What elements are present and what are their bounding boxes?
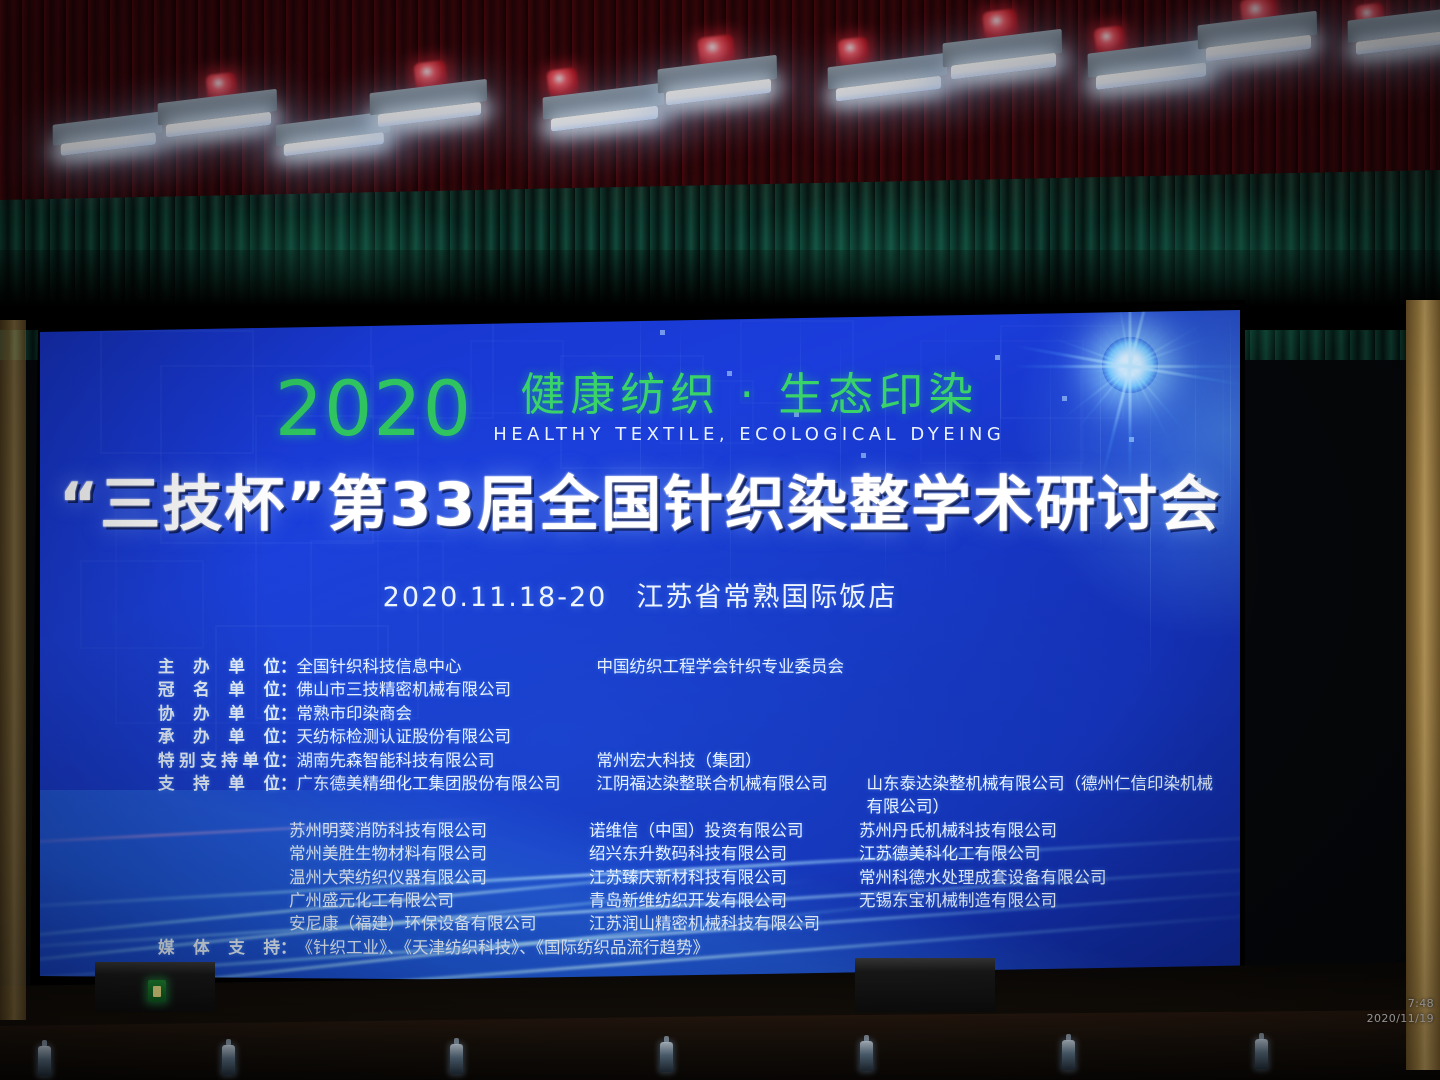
credit-values: 温州大荣纺织仪器有限公司江苏臻庆新材科技有限公司常州科德水处理成套设备有限公司 <box>289 866 1228 889</box>
credit-colon: ： <box>280 936 297 959</box>
credit-values: 佛山市三技精密机械有限公司 <box>297 678 1229 701</box>
tech-vertical-line <box>945 310 946 589</box>
left-wall-pillar <box>0 320 26 1020</box>
credit-row: 特别支持单位：湖南先森智能科技有限公司常州宏大科技（集团） <box>158 749 1228 772</box>
credit-value: 诺维信（中国）投资有限公司 <box>589 819 859 842</box>
credit-value <box>859 912 1228 935</box>
credit-colon: ： <box>280 678 297 701</box>
red-lamp-icon <box>837 36 870 65</box>
credit-values: 广东德美精细化工集团股份有限公司江阴福达染整联合机械有限公司山东泰达染整机械有限… <box>297 772 1229 819</box>
credit-values: 湖南先森智能科技有限公司常州宏大科技（集团） <box>297 749 1229 772</box>
credit-value: 苏州丹氏机械科技有限公司 <box>859 819 1228 842</box>
credit-values: 苏州明葵消防科技有限公司诺维信（中国）投资有限公司苏州丹氏机械科技有限公司 <box>289 819 1228 842</box>
credit-value: 佛山市三技精密机械有限公司 <box>297 678 597 701</box>
credit-values: 全国针织科技信息中心中国纺织工程学会针织专业委员会 <box>297 655 1229 678</box>
credit-label: 主 办 单 位 <box>158 655 280 678</box>
credit-value: 江苏润山精密机械科技有限公司 <box>589 912 859 935</box>
credit-value: 苏州明葵消防科技有限公司 <box>289 819 589 842</box>
credit-colon: ： <box>280 772 297 795</box>
stage-light-fixture <box>941 29 1068 111</box>
credit-value: 全国针织科技信息中心 <box>297 655 597 678</box>
credit-row: 媒 体 支 持：《针织工业》、《天津纺织科技》、《国际纺织品流行趋势》 <box>158 936 1228 959</box>
tech-node-dot <box>995 355 1000 360</box>
camera-timestamp: 7:48 2020/11/19 <box>1314 996 1434 1026</box>
credit-row: 常州美胜生物材料有限公司绍兴东升数码科技有限公司江苏德美科化工有限公司 <box>158 842 1228 865</box>
credit-values: 广州盛元化工有限公司青岛新维纺织开发有限公司无锡东宝机械制造有限公司 <box>289 889 1228 912</box>
credit-row: 主 办 单 位：全国针织科技信息中心中国纺织工程学会针织专业委员会 <box>158 655 1228 678</box>
red-lamp-icon <box>546 67 579 96</box>
credit-label: 特别支持单位 <box>158 749 280 772</box>
water-bottle <box>222 1045 235 1075</box>
exit-sign-glyph <box>153 986 161 997</box>
right-wall-pillar <box>1406 300 1440 1070</box>
credit-row: 支 持 单 位：广东德美精细化工集团股份有限公司江阴福达染整联合机械有限公司山东… <box>158 772 1228 819</box>
tech-node-dot <box>861 453 866 458</box>
led-screen: 2020 健康纺织 · 生态印染 HEALTHY TEXTILE, ECOLOG… <box>40 310 1240 990</box>
credit-row: 协 办 单 位：常熟市印染商会 <box>158 702 1228 725</box>
exit-sign-icon <box>148 980 166 1002</box>
credit-label: 冠 名 单 位 <box>158 678 280 701</box>
timestamp-date: 2020/11/19 <box>1314 1011 1434 1026</box>
credit-colon: ： <box>280 749 297 772</box>
credit-value: 《针织工业》、《天津纺织科技》、《国际纺织品流行趋势》 <box>297 936 710 959</box>
event-date-venue: 2020.11.18-20 江苏省常熟国际饭店 <box>40 582 1240 614</box>
credit-value: 广东德美精细化工集团股份有限公司 <box>297 772 597 819</box>
credit-value: 江阴福达染整联合机械有限公司 <box>597 772 867 819</box>
timestamp-time: 7:48 <box>1314 996 1434 1011</box>
credit-value: 常熟市印染商会 <box>297 702 597 725</box>
credit-value: 绍兴东升数码科技有限公司 <box>589 842 859 865</box>
credit-value: 广州盛元化工有限公司 <box>289 889 589 912</box>
credit-label: 承 办 单 位 <box>158 725 280 748</box>
credit-value: 无锡东宝机械制造有限公司 <box>859 889 1228 912</box>
slogan-chinese: 健康纺织 · 生态印染 <box>493 370 1005 420</box>
credit-value: 江苏德美科化工有限公司 <box>859 842 1228 865</box>
credit-value: 湖南先森智能科技有限公司 <box>297 749 597 772</box>
credit-row: 温州大荣纺织仪器有限公司江苏臻庆新材科技有限公司常州科德水处理成套设备有限公司 <box>158 866 1228 889</box>
credit-label: 协 办 单 位 <box>158 702 280 725</box>
credit-value: 天纺标检测认证股份有限公司 <box>297 725 597 748</box>
credit-values: 常熟市印染商会 <box>297 702 1229 725</box>
credit-value: 安尼康（福建）环保设备有限公司 <box>289 912 589 935</box>
credit-value: 青岛新维纺织开发有限公司 <box>589 889 859 912</box>
credit-label: 支 持 单 位 <box>158 772 280 795</box>
conference-hall-photo: 2020 健康纺织 · 生态印染 HEALTHY TEXTILE, ECOLOG… <box>0 0 1440 1080</box>
credit-values: 常州美胜生物材料有限公司绍兴东升数码科技有限公司江苏德美科化工有限公司 <box>289 842 1228 865</box>
credit-row: 冠 名 单 位：佛山市三技精密机械有限公司 <box>158 678 1228 701</box>
water-bottle <box>860 1041 873 1071</box>
credit-values: 天纺标检测认证股份有限公司 <box>297 725 1229 748</box>
credit-value: 温州大荣纺织仪器有限公司 <box>289 866 589 889</box>
stage-light-fixture <box>656 55 783 137</box>
credit-values: 《针织工业》、《天津纺织科技》、《国际纺织品流行趋势》 <box>297 936 1229 959</box>
water-bottle <box>1062 1040 1075 1070</box>
credit-row: 安尼康（福建）环保设备有限公司江苏润山精密机械科技有限公司 <box>158 912 1228 935</box>
credit-values: 安尼康（福建）环保设备有限公司江苏润山精密机械科技有限公司 <box>289 912 1228 935</box>
credit-colon: ： <box>280 725 297 748</box>
water-bottle <box>660 1042 673 1072</box>
credit-value: 江苏臻庆新材科技有限公司 <box>589 866 859 889</box>
slogan-english: HEALTHY TEXTILE, ECOLOGICAL DYEING <box>493 423 1005 447</box>
credit-value: 中国纺织工程学会针织专业委员会 <box>597 655 867 678</box>
organizer-credits-block: 主 办 单 位：全国针织科技信息中心中国纺织工程学会针织专业委员会冠 名 单 位… <box>158 655 1228 959</box>
credit-row: 广州盛元化工有限公司青岛新维纺织开发有限公司无锡东宝机械制造有限公司 <box>158 889 1228 912</box>
credit-label: 媒 体 支 持 <box>158 936 280 959</box>
credit-row: 承 办 单 位：天纺标检测认证股份有限公司 <box>158 725 1228 748</box>
stage-light-fixture <box>1346 8 1440 87</box>
tech-node-dot <box>660 330 665 335</box>
stage-light-fixture <box>1196 11 1323 93</box>
credit-value: 常州宏大科技（集团） <box>597 749 867 772</box>
event-brand-row: 2020 健康纺织 · 生态印染 HEALTHY TEXTILE, ECOLOG… <box>40 370 1240 447</box>
credit-value: 常州科德水处理成套设备有限公司 <box>859 866 1228 889</box>
event-year: 2020 <box>275 371 472 447</box>
credit-colon: ： <box>280 702 297 725</box>
water-bottle <box>38 1046 51 1076</box>
credit-value: 山东泰达染整机械有限公司（德州仁信印染机械有限公司） <box>867 772 1229 819</box>
credit-row: 苏州明葵消防科技有限公司诺维信（中国）投资有限公司苏州丹氏机械科技有限公司 <box>158 819 1228 842</box>
event-main-title: “三技杯”第33届全国针织染整学术研讨会 <box>40 472 1240 538</box>
water-bottle <box>1255 1039 1268 1069</box>
event-slogan: 健康纺织 · 生态印染 HEALTHY TEXTILE, ECOLOGICAL … <box>493 370 1005 447</box>
water-bottle <box>450 1044 463 1074</box>
podium-box <box>855 958 995 1012</box>
stage-light-fixture <box>52 112 169 189</box>
credit-value: 常州美胜生物材料有限公司 <box>289 842 589 865</box>
credit-colon: ： <box>280 655 297 678</box>
